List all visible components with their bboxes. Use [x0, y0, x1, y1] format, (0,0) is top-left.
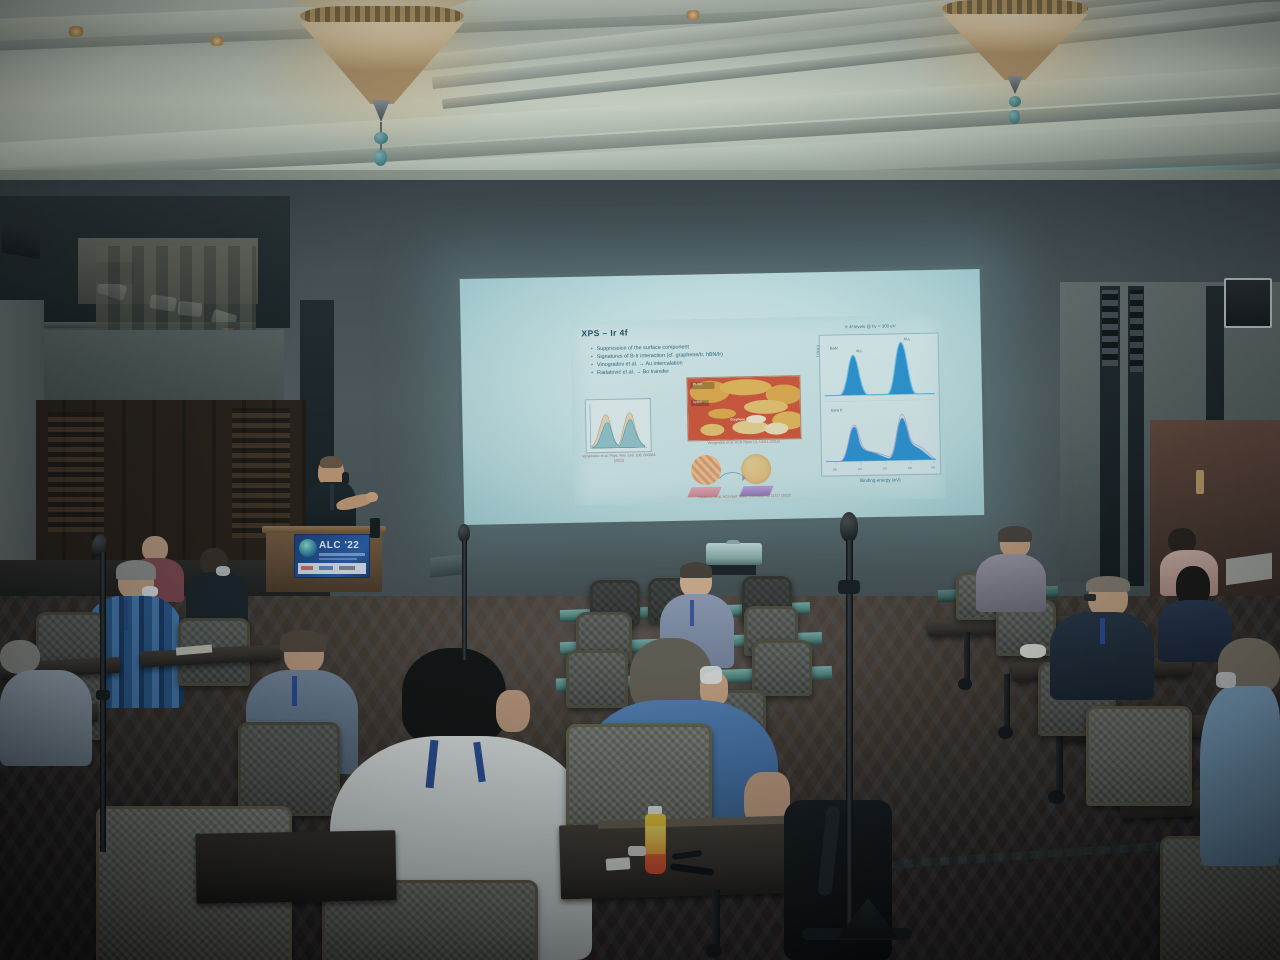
banner-title: ALC '22 — [319, 540, 359, 551]
mic-clip — [96, 690, 110, 700]
svg-text:bare Ir: bare Ir — [831, 407, 843, 412]
chart-ylabel: I (a.u.) — [815, 345, 820, 357]
wall-speaker — [1224, 278, 1272, 328]
svg-text:62: 62 — [883, 467, 887, 471]
table-caster — [706, 944, 722, 958]
bullet-dot-icon: • — [591, 361, 593, 369]
chair — [1086, 706, 1192, 806]
table-caster — [958, 678, 972, 690]
transfer-arrow-icon — [717, 468, 747, 483]
banner-text-line — [319, 558, 357, 560]
door-lattice — [48, 412, 104, 532]
wall-panel — [44, 330, 284, 400]
svg-text:64: 64 — [858, 467, 862, 471]
reference-xps-plot — [585, 398, 652, 453]
lanyard — [690, 600, 694, 626]
attendee-hair — [280, 630, 326, 652]
recessed-downlight — [684, 10, 702, 20]
svg-text:4f₅/₂: 4f₅/₂ — [856, 349, 864, 353]
svg-text:4f₇/₂: 4f₇/₂ — [904, 337, 911, 341]
stm-scalebar-label: 20 nm — [692, 382, 702, 386]
face-mask — [700, 666, 722, 684]
microphone-head — [840, 512, 858, 542]
podium-equipment — [370, 518, 380, 538]
laptop — [430, 554, 464, 578]
pendant-lamp-bead — [1009, 96, 1021, 107]
svg-text:58: 58 — [931, 466, 935, 470]
attendee-hair — [402, 648, 506, 744]
chart-panel-bare-ir: 66 64 62 60 58 — [825, 414, 936, 472]
table-caster — [1048, 790, 1065, 804]
lanyard — [124, 600, 128, 630]
podium-top — [262, 526, 386, 533]
stm-caption: Vinogradov et al. ACS Nano 13, 14311 (20… — [683, 439, 805, 446]
eyeglasses — [1084, 594, 1096, 601]
attendee-hair — [680, 562, 712, 578]
presenter-lanyard — [330, 484, 334, 510]
xps-chart-svg: BaN 4f₅/₂ 4f₇/₂ 66 64 — [820, 334, 941, 476]
chart-panel-ban — [824, 342, 935, 396]
conference-logo-icon — [299, 539, 317, 557]
sponsor-logo-icon — [301, 566, 313, 570]
recessed-downlight — [208, 36, 226, 46]
chair — [752, 640, 812, 696]
face-mask — [1216, 672, 1236, 688]
ceiling-speaker — [2, 219, 40, 260]
bullet-dot-icon: • — [591, 345, 593, 353]
reference-plot-caption: Varykhalov et al. Phys. Rev. Lett. 108, … — [581, 453, 657, 464]
name-badge — [606, 857, 631, 871]
attendee-torso — [1200, 686, 1280, 866]
svg-text:BaN: BaN — [830, 345, 838, 350]
presentation-slide: XPS – Ir 4f • Suppression of the surface… — [570, 314, 945, 505]
presenter-hair — [320, 456, 342, 468]
attendee-ear-face — [496, 690, 530, 732]
attendee-torso — [186, 572, 248, 624]
projector — [706, 543, 762, 565]
table-caster — [998, 726, 1013, 739]
table-leg — [1004, 674, 1010, 730]
face-mask-on-table — [1020, 644, 1046, 658]
wall-art-panel — [96, 246, 256, 330]
microphone-stand-pole — [462, 540, 467, 660]
podium-banner: ALC '22 — [294, 534, 370, 578]
sponsor-logo-icon — [339, 566, 355, 570]
microphone-stand-pole — [100, 552, 106, 852]
chair — [566, 650, 628, 708]
attendee-hair — [1086, 576, 1130, 592]
bullet-dot-icon: • — [591, 353, 593, 361]
svg-text:60: 60 — [908, 466, 912, 470]
svg-text:66: 66 — [833, 467, 837, 471]
attendee-hair — [998, 526, 1032, 542]
banner-subtitle-line — [319, 553, 365, 556]
wall-lattice-glass — [1102, 290, 1118, 366]
table — [559, 819, 811, 900]
recessed-downlight — [66, 26, 86, 37]
door-lattice — [232, 408, 290, 538]
stm-region-label-hbn: hBN/Ir — [693, 400, 702, 404]
bullet-dot-icon: • — [591, 369, 593, 377]
presenter-hand — [366, 492, 378, 502]
chair — [238, 722, 340, 816]
table-leg — [712, 890, 720, 950]
microphone-stand-pole — [846, 540, 853, 940]
chart-xlabel: Binding energy (eV) — [821, 477, 939, 484]
lanyard — [1100, 618, 1105, 644]
stm-micrograph: 20 nm hBN/Ir Graphene — [686, 375, 801, 441]
door-handle — [1196, 470, 1204, 494]
bottle-label — [646, 826, 665, 854]
pendant-lamp-bead — [374, 150, 387, 166]
pendant-lamp-bead — [374, 132, 388, 144]
reference-plot-svg — [586, 399, 651, 452]
wall-lattice-glass — [1130, 290, 1143, 372]
mic-clip — [838, 580, 860, 594]
stm-image-svg — [687, 376, 800, 440]
slide-bullet-list: • Suppression of the surface component •… — [591, 340, 852, 377]
slide-title: XPS – Ir 4f — [581, 327, 628, 338]
attendee-hair — [116, 560, 156, 580]
table — [195, 830, 396, 903]
face-mask — [216, 566, 230, 576]
handheld-microphone — [342, 472, 349, 484]
pendant-lamp-bead — [1009, 110, 1020, 124]
projector-lens-hood — [726, 540, 740, 544]
lanyard — [292, 676, 297, 706]
xps-chart: BaN 4f₅/₂ 4f₇/₂ 66 64 — [819, 333, 942, 477]
table-leg — [964, 632, 970, 682]
table-leg — [1056, 732, 1063, 794]
attendee-torso — [976, 554, 1046, 612]
attendee-torso — [0, 670, 92, 766]
chart-title: Ir 4f levels @ hv = 300 eV — [802, 323, 938, 331]
stm-region-label-graphene: Graphene — [730, 417, 745, 421]
conference-hall-photo: XPS – Ir 4f • Suppression of the surface… — [0, 0, 1280, 960]
attendee-head — [0, 640, 40, 674]
sponsor-logo-icon — [319, 566, 333, 570]
face-mask-on-table — [628, 846, 646, 856]
projector-stand — [708, 565, 756, 575]
